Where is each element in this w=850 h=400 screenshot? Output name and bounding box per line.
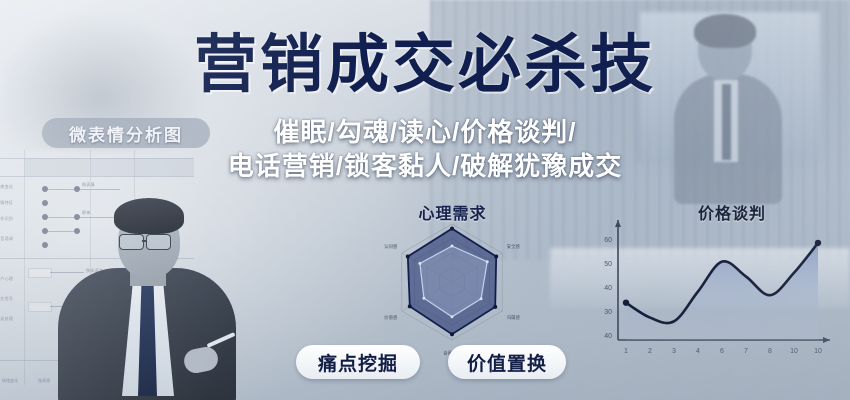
x-axis-tick-labels: 12346781010 xyxy=(624,348,822,355)
line-chart-area xyxy=(626,243,818,340)
presenter-hair xyxy=(114,198,184,234)
x-axis-arrow xyxy=(823,337,830,343)
radar-chart-svg: 尊重安全感归属感自我实现价值感认同感 xyxy=(340,214,565,364)
radar-chart: 心理需求 尊重安全感归属感自我实现价值感认同感 xyxy=(340,200,565,365)
svg-text:3: 3 xyxy=(672,348,676,355)
subtitle-line-1: 催眠/勾魂/读心/价格谈判/ xyxy=(0,118,850,147)
marketing-banner: 情绪变化 表情特征 动作识别 语音语调 微表情 眼神 客户心理 成交信号 异议处… xyxy=(0,0,850,400)
svg-text:认同感: 认同感 xyxy=(384,243,398,250)
page-title: 营销成交必杀技 xyxy=(0,34,850,97)
pill-value-exchange-label: 价值置换 xyxy=(467,349,547,376)
pill-pain-point-mining[interactable]: 痛点挖掘 xyxy=(296,345,420,379)
svg-text:1: 1 xyxy=(624,348,628,355)
svg-text:安全感: 安全感 xyxy=(507,243,521,250)
svg-text:10: 10 xyxy=(790,348,798,355)
svg-text:50: 50 xyxy=(604,261,612,268)
svg-text:6: 6 xyxy=(720,348,724,355)
line-chart: 价格谈判 12346781010 6050403040 xyxy=(578,198,840,378)
y-axis-tick-labels: 6050403040 xyxy=(604,237,612,340)
pill-value-exchange[interactable]: 价值置换 xyxy=(448,345,566,379)
svg-text:归属感: 归属感 xyxy=(507,314,521,321)
pill-pain-point-mining-label: 痛点挖掘 xyxy=(318,349,398,376)
svg-text:60: 60 xyxy=(604,237,612,244)
y-axis-arrow xyxy=(615,220,621,227)
glasses-bridge-icon xyxy=(142,240,147,242)
svg-text:7: 7 xyxy=(744,348,748,355)
svg-text:2: 2 xyxy=(648,348,652,355)
svg-text:8: 8 xyxy=(768,348,772,355)
subtitle-line-2: 电话营销/锁客黏人/破解犹豫成交 xyxy=(0,152,850,181)
svg-text:30: 30 xyxy=(604,309,612,316)
line-chart-svg: 12346781010 6050403040 xyxy=(578,214,840,376)
svg-text:40: 40 xyxy=(604,333,612,340)
svg-text:价值感: 价值感 xyxy=(384,314,398,321)
svg-text:40: 40 xyxy=(604,285,612,292)
svg-text:4: 4 xyxy=(696,348,700,355)
glasses-left-lens-icon xyxy=(119,234,144,250)
svg-text:尊重: 尊重 xyxy=(448,214,457,215)
glasses-right-lens-icon xyxy=(146,234,171,250)
svg-text:10: 10 xyxy=(814,348,822,355)
presenter-photo xyxy=(58,198,236,400)
